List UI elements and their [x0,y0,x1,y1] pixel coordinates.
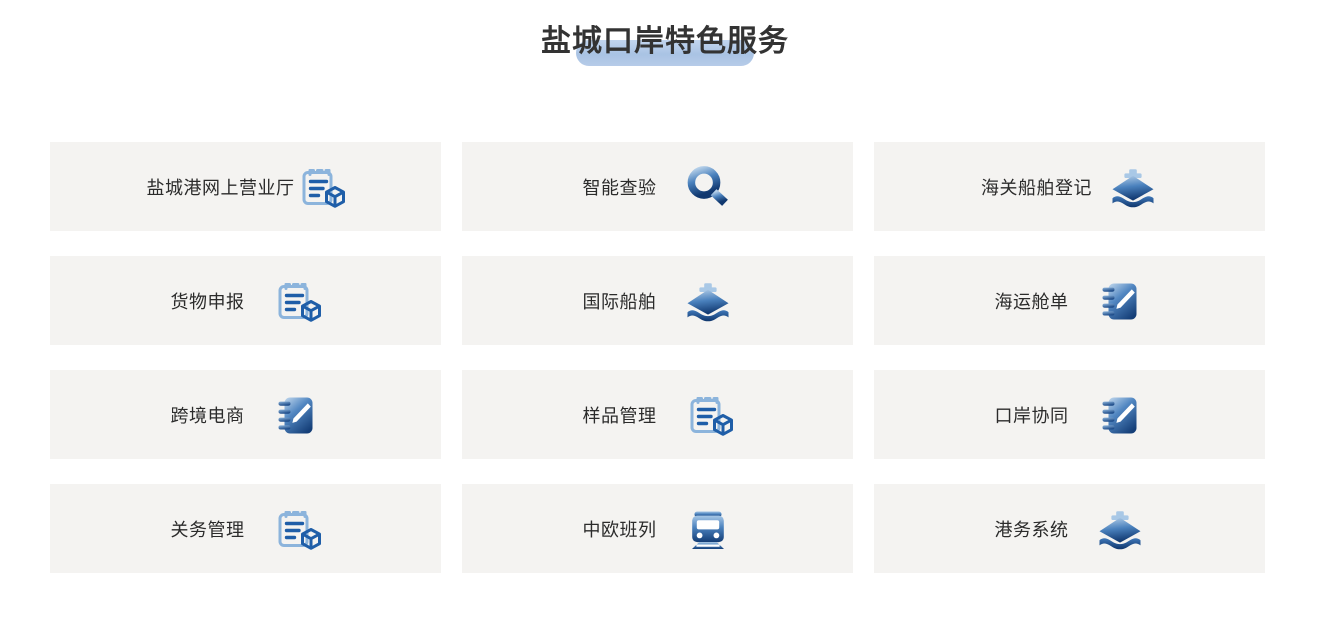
service-card[interactable]: 货物申报 [50,256,441,345]
service-card-label: 样品管理 [583,402,657,428]
notebook-pen-icon [271,390,321,440]
notebook-pen-icon [1095,390,1145,440]
service-card-label: 货物申报 [171,288,245,314]
service-card-label: 中欧班列 [583,516,657,542]
service-card-label: 跨境电商 [171,402,245,428]
service-card[interactable]: 海关船舶登记 [874,142,1265,231]
service-card[interactable]: 样品管理 [462,370,853,459]
service-card[interactable]: 口岸协同 [874,370,1265,459]
page-root: 盐城口岸特色服务 盐城港网上营业厅 智能查验 [0,0,1330,627]
service-card-label: 国际船舶 [583,288,657,314]
service-card-label: 海运舱单 [995,288,1069,314]
service-card-label: 口岸协同 [995,402,1069,428]
service-card[interactable]: 海运舱单 [874,256,1265,345]
service-card-label: 港务系统 [995,516,1069,542]
page-title-wrapper: 盐城口岸特色服务 [0,22,1330,62]
ship-icon [683,276,733,326]
service-card-label: 关务管理 [171,516,245,542]
service-card[interactable]: 关务管理 [50,484,441,573]
service-card[interactable]: 盐城港网上营业厅 [50,142,441,231]
ship-icon [1108,162,1158,212]
service-card-label: 盐城港网上营业厅 [147,174,295,200]
service-card[interactable]: 跨境电商 [50,370,441,459]
service-card[interactable]: 中欧班列 [462,484,853,573]
train-icon [683,504,733,554]
service-card-label: 海关船舶登记 [981,174,1092,200]
ship-icon [1095,504,1145,554]
clipboard-box-icon [271,276,321,326]
service-card-label: 智能查验 [583,174,657,200]
notebook-pen-icon [1095,276,1145,326]
service-grid: 盐城港网上营业厅 智能查验 [50,142,1265,573]
clipboard-box-icon [683,390,733,440]
service-card[interactable]: 智能查验 [462,142,853,231]
service-card[interactable]: 港务系统 [874,484,1265,573]
page-title: 盐城口岸特色服务 [541,25,789,58]
clipboard-box-icon [295,162,345,212]
page-title-inner: 盐城口岸特色服务 [541,22,789,62]
magnifier-icon [683,162,733,212]
service-card[interactable]: 国际船舶 [462,256,853,345]
clipboard-box-icon [271,504,321,554]
